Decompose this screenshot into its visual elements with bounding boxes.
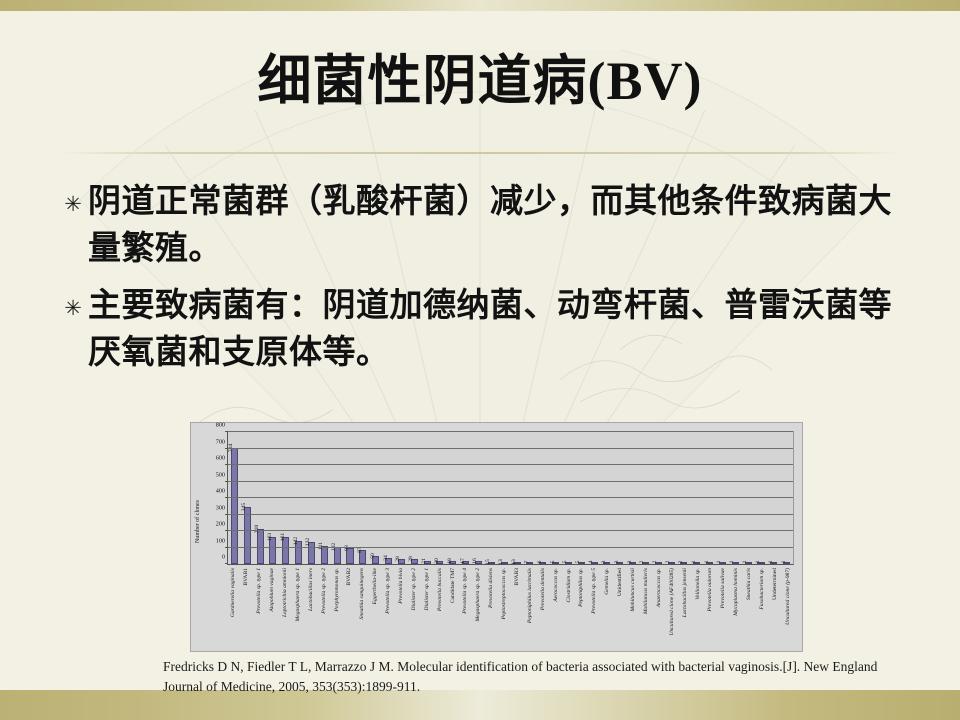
chart-bar-cell: 1	[716, 432, 729, 564]
chart-x-tick-label: BVAB2	[346, 568, 352, 586]
chart-x-tick-label: Prevotella sp. type 4	[462, 568, 468, 614]
chart-x-tick-label: Prevotella sp. type 2	[321, 568, 327, 614]
chart-x-cell: BVAB3	[511, 567, 524, 655]
chart-bar-cell: 18	[446, 432, 459, 564]
chart-bar-value-label: 21	[421, 558, 427, 564]
chart-bar-cell: 704	[228, 432, 241, 564]
chart-x-tick-label: Eggerthella-like	[372, 568, 378, 604]
chart-bar: 3	[616, 562, 623, 564]
chart-y-tick-label: 700	[216, 438, 225, 445]
asterisk-bullet-icon: ✳	[58, 178, 88, 215]
chart-x-tick-label: Mobiluncus mulieris	[643, 568, 649, 614]
chart-bar: 2	[668, 562, 675, 564]
chart-x-cell: Mobiluncus mulieris	[640, 567, 653, 655]
chart-bar-value-label: 2	[639, 561, 645, 564]
chart-bar: 5	[565, 562, 572, 564]
chart-bar: 4	[591, 562, 598, 564]
chart-bar-value-label: 17	[460, 558, 466, 564]
chart-bar-cell: 5	[562, 432, 575, 564]
chart-y-tick-mark	[225, 431, 228, 432]
chart-bar-cell: 345	[241, 432, 254, 564]
chart-y-tick-label: 800	[216, 422, 225, 429]
chart-y-tick-label: 300	[216, 504, 225, 511]
chart-y-tick-mark	[225, 481, 228, 482]
chart-y-tick-label: 400	[216, 488, 225, 495]
chart-x-tick-label: Porphyromonas sp.	[334, 568, 340, 612]
chart-bar-cell: 2	[639, 432, 652, 564]
chart-bar-cell: 28	[395, 432, 408, 564]
bullet-list: ✳ 阴道正常菌群（乳酸杆菌）减少，而其他条件致病菌大量繁殖。 ✳ 主要致病菌有：…	[58, 178, 918, 385]
chart-x-cell: Peptoniphilus lacrimalis	[523, 567, 536, 655]
chart-x-cell: BVAB1	[240, 567, 253, 655]
chart-bar-value-label: 3	[614, 561, 620, 564]
chart-bar-cell: 3	[600, 432, 613, 564]
chart-bar-value-label: 16	[472, 559, 478, 565]
chart-bar-value-label: 34	[383, 556, 389, 562]
chart-x-tick-label: Peptostreptococcus sp.	[501, 568, 507, 619]
chart-bar-value-label: 15	[485, 559, 491, 565]
chart-gridline	[228, 514, 793, 515]
chart-x-cell: Sneathia caris	[743, 567, 756, 655]
chart-bar: 3	[629, 562, 636, 564]
chart-y-tick-mark	[225, 563, 228, 564]
chart-x-tick-label: Uncultured clone (AF400285)	[669, 568, 675, 636]
chart-x-tick-label: Prevotella sp. type 5	[591, 568, 597, 614]
chart-bar: 18	[449, 561, 456, 564]
chart-bar: 1	[745, 562, 752, 564]
chart-x-cell: Unidentified	[614, 567, 627, 655]
list-item: ✳ 主要致病菌有：阴道加德纳菌、动弯杆菌、普雷沃菌等厌氧菌和支原体等。	[58, 282, 918, 376]
chart-x-tick-label: Fusobacterium sp.	[759, 568, 765, 610]
chart-x-cell: Megasphaera sp. type 2	[472, 567, 485, 655]
chart-bar-value-label: 1	[716, 561, 722, 564]
chart-bar: 15	[488, 562, 495, 564]
chart-bar-value-label: 7	[524, 561, 530, 564]
chart-bar: 6	[539, 562, 546, 564]
chart-bar-value-label: 5	[575, 561, 581, 564]
chart-bar-cell: 17	[459, 432, 472, 564]
chart-gridline	[228, 481, 793, 482]
chart-x-tick-label: BVAB1	[243, 568, 249, 586]
chart-bar: 17	[462, 561, 469, 564]
chart-x-cell: Gemella sp.	[601, 567, 614, 655]
chart-gridline	[228, 530, 793, 531]
chart-bar: 1	[719, 562, 726, 564]
chart-bar-cell: 142	[292, 432, 305, 564]
chart-x-cell: Leptotrichia amnionii	[279, 567, 292, 655]
chart-bars: 7043452101631611421321111029887503428282…	[228, 432, 793, 564]
chart-bar-cell: 13	[511, 432, 524, 564]
chart-gridline	[228, 497, 793, 498]
chart-x-cell: Prevotella buccalis	[433, 567, 446, 655]
chart-bar: 98	[346, 548, 353, 564]
chart-x-tick-label: Undetermined	[772, 568, 778, 600]
chart-bar-value-label: 28	[395, 557, 401, 563]
list-item: ✳ 阴道正常菌群（乳酸杆菌）减少，而其他条件致病菌大量繁殖。	[58, 178, 918, 272]
chart-x-tick-label: Dialister sp. type 2	[411, 568, 417, 611]
chart-bar-value-label: 2	[665, 561, 671, 564]
chart-bar-value-label: 87	[357, 547, 363, 553]
chart-bar: 21	[424, 561, 431, 564]
chart-bar-cell: 161	[279, 432, 292, 564]
chart-bar: 5	[578, 562, 585, 564]
chart-bar: 1	[770, 562, 777, 564]
chart-x-tick-label: Prevotella sp. type 1	[256, 568, 262, 614]
chart-bar-cell: 7	[523, 432, 536, 564]
chart-gridline	[228, 448, 793, 449]
chart-bar: 20	[436, 561, 443, 564]
chart-bar-cell: 1	[755, 432, 768, 564]
chart-bar-cell: 1	[703, 432, 716, 564]
chart-bar: 34	[385, 558, 392, 564]
chart-bar-cell: 6	[536, 432, 549, 564]
chart-bar-cell: 132	[305, 432, 318, 564]
chart-bar: 345	[244, 507, 251, 564]
chart-x-tick-label: Candidate TM7	[450, 568, 456, 603]
chart-bar-cell: 5	[575, 432, 588, 564]
chart-x-cell: Candidate TM7	[446, 567, 459, 655]
chart-bar: 5	[552, 562, 559, 564]
chart-bar-cell: 21	[421, 432, 434, 564]
chart-x-cell: BVAB2	[343, 567, 356, 655]
chart-bar: 1	[757, 562, 764, 564]
chart-x-cell: Sneathia sanguinegens	[356, 567, 369, 655]
chart-y-tick-mark	[225, 464, 228, 465]
chart-bar-cell: 163	[267, 432, 280, 564]
chart-x-cell: Prevotella salivae	[717, 567, 730, 655]
chart-x-cell: Atopobium vaginae	[266, 567, 279, 655]
slide: 细菌性阴道病(BV) ✳ 阴道正常菌群（乳酸杆菌）减少，而其他条件致病菌大量繁殖…	[0, 0, 960, 720]
chart-x-tick-label: Leptotrichia amnionii	[282, 568, 288, 617]
chart-y-tick-mark	[225, 497, 228, 498]
chart-bar-cell: 1	[767, 432, 780, 564]
chart-bar-cell: 16	[472, 432, 485, 564]
chart-bar-cell: 1	[742, 432, 755, 564]
page-title: 细菌性阴道病(BV)	[0, 52, 960, 111]
chart-x-axis-labels: Gardnerella vaginalisBVAB1Prevotella sp.…	[227, 567, 794, 655]
chart-bar: 1	[783, 562, 790, 564]
chart-bar-cell: 210	[254, 432, 267, 564]
chart-x-cell: Prevotella sp. type 1	[253, 567, 266, 655]
chart-y-tick-label: 600	[216, 455, 225, 462]
chart-bar-cell: 4	[588, 432, 601, 564]
chart-bar-cell: 5	[549, 432, 562, 564]
chart-bar-cell: 102	[331, 432, 344, 564]
chart-x-tick-label: Aerococcus sp.	[553, 568, 559, 602]
chart-bar-cell: 1	[729, 432, 742, 564]
chart-x-tick-label: BVAB3	[514, 568, 520, 586]
chart-x-cell: Uncultured clone (AF400285)	[665, 567, 678, 655]
chart-x-cell: Dialister sp. type 2	[407, 567, 420, 655]
chart-x-tick-label: Peptoniphilus sp.	[578, 568, 584, 607]
chart-x-cell: Peptoniphilus sp.	[575, 567, 588, 655]
asterisk-bullet-icon: ✳	[58, 282, 88, 319]
chart-bar-cell: 13	[498, 432, 511, 564]
chart-bar-value-label: 13	[511, 559, 517, 565]
chart-y-tick-label: 100	[216, 537, 225, 544]
chart-bar-cell: 2	[652, 432, 665, 564]
bullet-text-1: 阴道正常菌群（乳酸杆菌）减少，而其他条件致病菌大量繁殖。	[88, 178, 918, 272]
chart-x-cell: Megasphaera sp. type 1	[291, 567, 304, 655]
chart-x-tick-label: Uncultured clone (p-987)	[785, 568, 791, 625]
chart-x-cell: Prevotella disiens	[485, 567, 498, 655]
chart-bar-value-label: 161	[280, 533, 286, 541]
chart-bar-value-label: 6	[537, 561, 543, 564]
chart-x-tick-label: Prevotella dentalis	[540, 568, 546, 610]
chart-bar: 2	[680, 562, 687, 564]
chart-bar-cell: 1	[690, 432, 703, 564]
chart-bar: 2	[655, 562, 662, 564]
chart-bar: 13	[501, 562, 508, 564]
chart-bar-value-label: 1	[755, 561, 761, 564]
chart-y-tick-mark	[225, 448, 228, 449]
chart-x-cell: Prevotella sp. type 5	[588, 567, 601, 655]
chart-bar: 50	[372, 556, 379, 564]
chart-x-tick-label: Unidentified	[617, 568, 623, 596]
chart-bar: 163	[269, 537, 276, 564]
chart-gridline	[228, 547, 793, 548]
chart-x-cell: Prevotella dentalis	[536, 567, 549, 655]
chart-bar-value-label: 1	[742, 561, 748, 564]
chart-bar-value-label: 142	[293, 536, 299, 544]
chart-bar: 13	[513, 562, 520, 564]
chart-x-cell: Fusobacterium sp.	[756, 567, 769, 655]
chart-bar: 2	[642, 562, 649, 564]
chart-bar-value-label: 5	[550, 561, 556, 564]
chart-bar-value-label: 1	[781, 561, 787, 564]
chart-x-tick-label: Sneathia caris	[746, 568, 752, 600]
chart-bar: 1	[693, 562, 700, 564]
chart-x-cell: Mobiluncus curtisii	[627, 567, 640, 655]
chart-bar-value-label: 18	[447, 558, 453, 564]
chart-bar: 111	[321, 546, 328, 564]
chart-x-tick-label: Prevotella bivia	[398, 568, 404, 604]
chart-x-cell: Undetermined	[768, 567, 781, 655]
chart-bar: 142	[295, 541, 302, 564]
chart-y-tick-label: 0	[222, 554, 225, 561]
chart-bar: 87	[359, 550, 366, 564]
chart-x-cell: Porphyromonas sp.	[330, 567, 343, 655]
chart-gridline	[228, 431, 793, 432]
chart-bar-value-label: 132	[305, 538, 311, 546]
chart-y-tick-label: 200	[216, 521, 225, 528]
chart-bar-value-label: 163	[267, 533, 273, 541]
chart-x-cell: Anaerococcus sp.	[652, 567, 665, 655]
chart-bar-cell: 28	[408, 432, 421, 564]
chart-x-tick-label: Veillonella sp.	[695, 568, 701, 600]
chart-x-tick-label: Gemella sp.	[604, 568, 610, 595]
chart-x-cell: Uncultured clone (p-987)	[781, 567, 794, 655]
chart-x-tick-label: Peptoniphilus lacrimalis	[527, 568, 533, 623]
chart-x-tick-label: Prevotella sp. type 3	[385, 568, 391, 614]
chart-bar: 1	[732, 562, 739, 564]
chart-x-cell: Aerococcus sp.	[549, 567, 562, 655]
chart-x-cell: Eggerthella-like	[369, 567, 382, 655]
chart-bar-value-label: 5	[562, 561, 568, 564]
chart-x-cell: Lactobacillus iners	[304, 567, 317, 655]
citation-line-1: Fredricks D N, Fiedler T L, Marrazzo J M…	[163, 659, 725, 674]
chart-bar-cell: 20	[434, 432, 447, 564]
chart-x-cell: Dialister sp. type 1	[420, 567, 433, 655]
chart-bar-value-label: 2	[678, 561, 684, 564]
chart-x-cell: Lactobacillus jensenii	[678, 567, 691, 655]
chart-bar-cell: 50	[369, 432, 382, 564]
chart-bar-cell: 98	[344, 432, 357, 564]
chart-x-tick-label: Anaerococcus sp.	[656, 568, 662, 607]
bar-chart: Number of clones 70434521016316114213211…	[190, 422, 803, 652]
chart-bar-cell: 2	[678, 432, 691, 564]
chart-bar-cell: 34	[382, 432, 395, 564]
chart-bar-cell: 111	[318, 432, 331, 564]
chart-x-cell: Prevotella sp. type 3	[382, 567, 395, 655]
chart-plot-area: 7043452101631611421321111029887503428282…	[227, 431, 794, 565]
chart-bar: 28	[398, 559, 405, 564]
chart-bar-value-label: 2	[652, 561, 658, 564]
citation: Fredricks D N, Fiedler T L, Marrazzo J M…	[163, 657, 883, 698]
chart-x-cell: Prevotella sp. type 2	[317, 567, 330, 655]
chart-y-tick-mark	[225, 514, 228, 515]
chart-bar: 132	[308, 542, 315, 564]
chart-bar-value-label: 50	[370, 553, 376, 559]
chart-x-cell: Prevotella oulorum	[704, 567, 717, 655]
chart-x-cell: Veillonella sp.	[691, 567, 704, 655]
chart-x-tick-label: Clostridium sp.	[566, 568, 572, 603]
title-divider	[57, 152, 903, 154]
chart-bar: 3	[603, 562, 610, 564]
title-area: 细菌性阴道病(BV)	[0, 52, 960, 111]
chart-x-cell: Peptostreptococcus sp.	[498, 567, 511, 655]
chart-bar-value-label: 345	[241, 503, 247, 511]
chart-x-tick-label: Dialister sp. type 1	[424, 568, 430, 611]
chart-gridline	[228, 464, 793, 465]
chart-x-tick-label: Lactobacillus iners	[308, 568, 314, 611]
chart-bar-value-label: 1	[768, 561, 774, 564]
chart-bar: 161	[282, 537, 289, 564]
chart-y-tick-mark	[225, 530, 228, 531]
chart-bar: 28	[411, 559, 418, 564]
chart-bar-value-label: 1	[729, 561, 735, 564]
chart-bar-cell: 2	[665, 432, 678, 564]
chart-bar: 1	[706, 562, 713, 564]
chart-bar: 16	[475, 561, 482, 564]
chart-bar-cell: 3	[613, 432, 626, 564]
chart-x-tick-label: Prevotella oulorum	[707, 568, 713, 611]
chart-bar: 7	[526, 562, 533, 564]
chart-bar-cell: 1	[780, 432, 793, 564]
chart-bar-cell: 15	[485, 432, 498, 564]
chart-y-axis-label: Number of clones	[195, 477, 209, 567]
chart-bar-cell: 87	[356, 432, 369, 564]
chart-bar-value-label: 1	[704, 561, 710, 564]
chart-x-tick-label: Sneathia sanguinegens	[359, 568, 365, 619]
chart-x-cell: Mycoplasma hominis	[730, 567, 743, 655]
chart-bar: 102	[334, 547, 341, 564]
chart-y-tick-label: 500	[216, 471, 225, 478]
chart-x-cell: Prevotella bivia	[395, 567, 408, 655]
chart-x-tick-label: Prevotella buccalis	[437, 568, 443, 611]
chart-x-tick-label: Gardnerella vaginalis	[230, 568, 236, 617]
chart-x-tick-label: Lactobacillus jensenii	[682, 568, 688, 617]
chart-bar-cell: 3	[626, 432, 639, 564]
chart-x-tick-label: Atopobium vaginae	[269, 568, 275, 612]
chart-x-cell: Clostridium sp.	[562, 567, 575, 655]
chart-bar-value-label: 3	[601, 561, 607, 564]
top-gold-band	[0, 0, 960, 11]
chart-bar-value-label: 20	[434, 558, 440, 564]
chart-x-tick-label: Megasphaera sp. type 2	[475, 568, 481, 621]
chart-x-tick-label: Megasphaera sp. type 1	[295, 568, 301, 621]
chart-x-tick-label: Prevotella disiens	[488, 568, 494, 608]
chart-y-tick-mark	[225, 547, 228, 548]
chart-x-tick-label: Mobiluncus curtisii	[630, 568, 636, 612]
chart-x-tick-label: Prevotella salivae	[720, 568, 726, 608]
chart-x-cell: Prevotella sp. type 4	[459, 567, 472, 655]
chart-bar-value-label: 28	[408, 557, 414, 563]
chart-x-tick-label: Mycoplasma hominis	[733, 568, 739, 616]
chart-bar-value-label: 1	[691, 561, 697, 564]
chart-x-cell: Gardnerella vaginalis	[227, 567, 240, 655]
chart-bar-value-label: 3	[627, 561, 633, 564]
bullet-text-2: 主要致病菌有：阴道加德纳菌、动弯杆菌、普雷沃菌等厌氧菌和支原体等。	[88, 282, 918, 376]
chart-bar-value-label: 4	[588, 561, 594, 564]
chart-bar-value-label: 13	[498, 559, 504, 565]
